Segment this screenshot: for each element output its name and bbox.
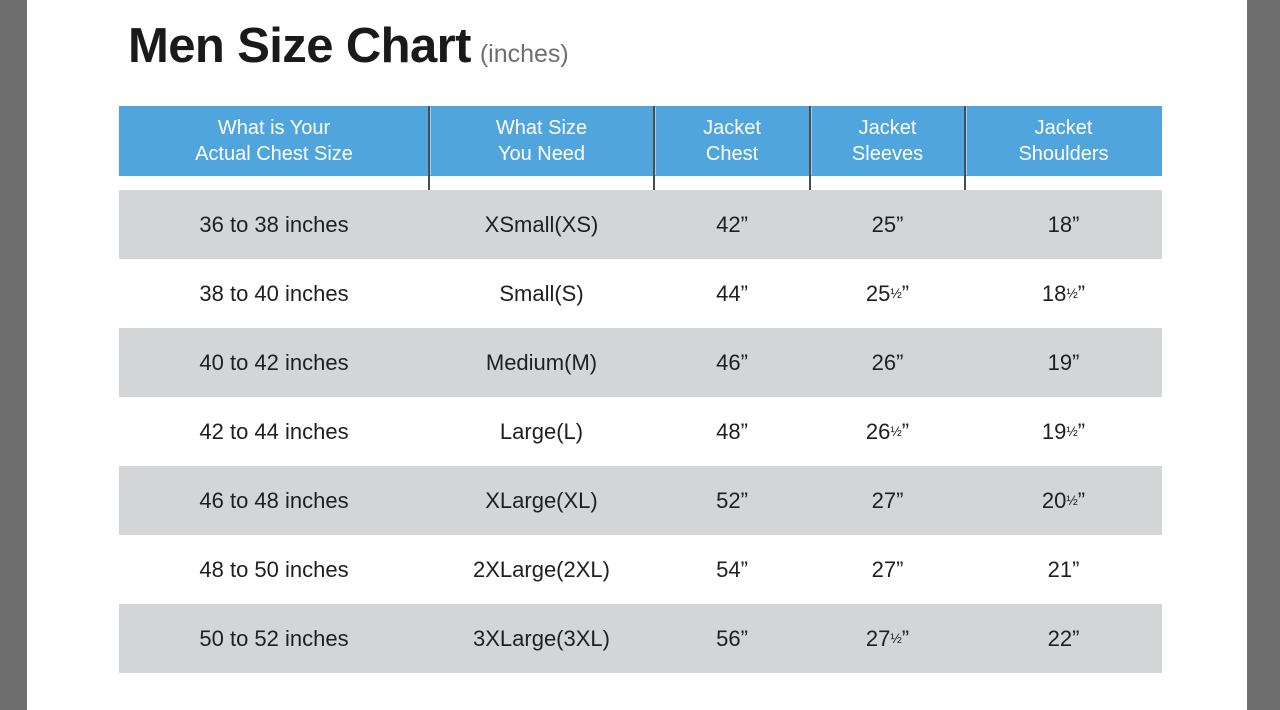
cell-jacket-sleeves: 27” bbox=[810, 535, 965, 604]
cell-jacket-sleeves: 27” bbox=[810, 466, 965, 535]
table-header-cell-4: JacketShoulders bbox=[965, 106, 1162, 176]
cell-chest-range: 38 to 40 inches bbox=[119, 259, 429, 328]
measure-whole: 27 bbox=[872, 557, 896, 583]
letterbox-bar-right bbox=[1247, 0, 1280, 710]
cell-size-name: 2XLarge(2XL) bbox=[429, 535, 654, 604]
slide-canvas: Men Size Chart (inches) What is YourActu… bbox=[0, 0, 1280, 710]
header-line-1: Jacket bbox=[1035, 115, 1093, 141]
measure-fraction: ½ bbox=[890, 631, 901, 646]
letterbox-bar-left bbox=[0, 0, 27, 710]
cell-size-name: XSmall(XS) bbox=[429, 190, 654, 259]
measure-unit: ” bbox=[896, 488, 903, 514]
measure-whole: 56 bbox=[716, 626, 740, 652]
table-body: 36 to 38 inchesXSmall(XS)42”25”18”38 to … bbox=[119, 190, 1162, 673]
cell-jacket-sleeves: 27½” bbox=[810, 604, 965, 673]
measure-whole: 19 bbox=[1042, 419, 1066, 445]
measure-unit: ” bbox=[896, 212, 903, 238]
measure-unit: ” bbox=[1078, 488, 1085, 514]
cell-size-name: XLarge(XL) bbox=[429, 466, 654, 535]
header-line-1: Jacket bbox=[703, 115, 761, 141]
measure-whole: 26 bbox=[872, 350, 896, 376]
size-chart-table: What is YourActual Chest SizeWhat SizeYo… bbox=[119, 106, 1162, 673]
measure-whole: 20 bbox=[1042, 488, 1066, 514]
measure-fraction: ½ bbox=[890, 286, 901, 301]
cell-size-name: 3XLarge(3XL) bbox=[429, 604, 654, 673]
measure-unit: ” bbox=[741, 281, 748, 307]
measure-whole: 27 bbox=[872, 488, 896, 514]
cell-jacket-shoulders: 18½” bbox=[965, 259, 1162, 328]
cell-jacket-shoulders: 22” bbox=[965, 604, 1162, 673]
table-row[interactable]: 40 to 42 inchesMedium(M)46”26”19” bbox=[119, 328, 1162, 397]
measure-whole: 18 bbox=[1048, 212, 1072, 238]
cell-chest-range: 48 to 50 inches bbox=[119, 535, 429, 604]
cell-jacket-chest: 54” bbox=[654, 535, 810, 604]
header-line-2: You Need bbox=[498, 141, 585, 167]
measure-unit: ” bbox=[741, 557, 748, 583]
cell-jacket-shoulders: 19½” bbox=[965, 397, 1162, 466]
cell-jacket-sleeves: 26” bbox=[810, 328, 965, 397]
measure-unit: ” bbox=[1072, 350, 1079, 376]
measure-whole: 46 bbox=[716, 350, 740, 376]
table-header-cell-2: JacketChest bbox=[654, 106, 810, 176]
cell-jacket-sleeves: 25½” bbox=[810, 259, 965, 328]
measure-unit: ” bbox=[741, 350, 748, 376]
measure-whole: 22 bbox=[1048, 626, 1072, 652]
measure-unit: ” bbox=[1072, 212, 1079, 238]
cell-jacket-shoulders: 19” bbox=[965, 328, 1162, 397]
header-line-2: Sleeves bbox=[852, 141, 923, 167]
cell-jacket-shoulders: 21” bbox=[965, 535, 1162, 604]
measure-fraction: ½ bbox=[1066, 493, 1077, 508]
measure-unit: ” bbox=[741, 212, 748, 238]
table-row[interactable]: 36 to 38 inchesXSmall(XS)42”25”18” bbox=[119, 190, 1162, 259]
table-header-cell-0: What is YourActual Chest Size bbox=[119, 106, 429, 176]
table-header-cell-1: What SizeYou Need bbox=[429, 106, 654, 176]
measure-whole: 48 bbox=[716, 419, 740, 445]
measure-unit: ” bbox=[1072, 557, 1079, 583]
measure-unit: ” bbox=[1078, 419, 1085, 445]
measure-unit: ” bbox=[741, 488, 748, 514]
cell-size-name: Large(L) bbox=[429, 397, 654, 466]
cell-jacket-sleeves: 25” bbox=[810, 190, 965, 259]
page-title: Men Size Chart (inches) bbox=[128, 22, 569, 71]
measure-unit: ” bbox=[1078, 281, 1085, 307]
measure-fraction: ½ bbox=[1066, 424, 1077, 439]
cell-jacket-chest: 52” bbox=[654, 466, 810, 535]
measure-whole: 18 bbox=[1042, 281, 1066, 307]
cell-jacket-chest: 48” bbox=[654, 397, 810, 466]
measure-fraction: ½ bbox=[890, 424, 901, 439]
cell-jacket-chest: 56” bbox=[654, 604, 810, 673]
cell-jacket-sleeves: 26½” bbox=[810, 397, 965, 466]
page-title-main: Men Size Chart bbox=[128, 22, 471, 71]
measure-whole: 25 bbox=[866, 281, 890, 307]
slide-content: Men Size Chart (inches) What is YourActu… bbox=[27, 0, 1247, 710]
cell-chest-range: 36 to 38 inches bbox=[119, 190, 429, 259]
table-row[interactable]: 48 to 50 inches2XLarge(2XL)54”27”21” bbox=[119, 535, 1162, 604]
table-header-row: What is YourActual Chest SizeWhat SizeYo… bbox=[119, 106, 1162, 176]
measure-whole: 21 bbox=[1048, 557, 1072, 583]
measure-unit: ” bbox=[902, 281, 909, 307]
cell-chest-range: 42 to 44 inches bbox=[119, 397, 429, 466]
measure-unit: ” bbox=[902, 419, 909, 445]
header-body-gap bbox=[119, 176, 1162, 190]
measure-whole: 44 bbox=[716, 281, 740, 307]
measure-unit: ” bbox=[896, 350, 903, 376]
measure-whole: 27 bbox=[866, 626, 890, 652]
cell-jacket-chest: 46” bbox=[654, 328, 810, 397]
measure-whole: 26 bbox=[866, 419, 890, 445]
header-line-2: Chest bbox=[706, 141, 758, 167]
cell-chest-range: 46 to 48 inches bbox=[119, 466, 429, 535]
measure-unit: ” bbox=[741, 419, 748, 445]
table-row[interactable]: 38 to 40 inchesSmall(S)44”25½”18½” bbox=[119, 259, 1162, 328]
header-line-2: Shoulders bbox=[1018, 141, 1108, 167]
cell-size-name: Small(S) bbox=[429, 259, 654, 328]
header-line-1: What Size bbox=[496, 115, 587, 141]
table-row[interactable]: 50 to 52 inches3XLarge(3XL)56”27½”22” bbox=[119, 604, 1162, 673]
table-header-cell-3: JacketSleeves bbox=[810, 106, 965, 176]
measure-whole: 42 bbox=[716, 212, 740, 238]
table-row[interactable]: 46 to 48 inchesXLarge(XL)52”27”20½” bbox=[119, 466, 1162, 535]
measure-whole: 54 bbox=[716, 557, 740, 583]
measure-whole: 25 bbox=[872, 212, 896, 238]
measure-whole: 52 bbox=[716, 488, 740, 514]
cell-jacket-shoulders: 20½” bbox=[965, 466, 1162, 535]
measure-unit: ” bbox=[896, 557, 903, 583]
page-title-units: (inches) bbox=[480, 42, 569, 67]
header-line-1: What is Your bbox=[218, 115, 330, 141]
cell-jacket-shoulders: 18” bbox=[965, 190, 1162, 259]
measure-fraction: ½ bbox=[1066, 286, 1077, 301]
cell-chest-range: 50 to 52 inches bbox=[119, 604, 429, 673]
measure-unit: ” bbox=[1072, 626, 1079, 652]
header-line-1: Jacket bbox=[859, 115, 917, 141]
cell-jacket-chest: 42” bbox=[654, 190, 810, 259]
cell-size-name: Medium(M) bbox=[429, 328, 654, 397]
header-line-2: Actual Chest Size bbox=[195, 141, 353, 167]
cell-jacket-chest: 44” bbox=[654, 259, 810, 328]
table-row[interactable]: 42 to 44 inchesLarge(L)48”26½”19½” bbox=[119, 397, 1162, 466]
measure-unit: ” bbox=[741, 626, 748, 652]
measure-unit: ” bbox=[902, 626, 909, 652]
cell-chest-range: 40 to 42 inches bbox=[119, 328, 429, 397]
measure-whole: 19 bbox=[1048, 350, 1072, 376]
